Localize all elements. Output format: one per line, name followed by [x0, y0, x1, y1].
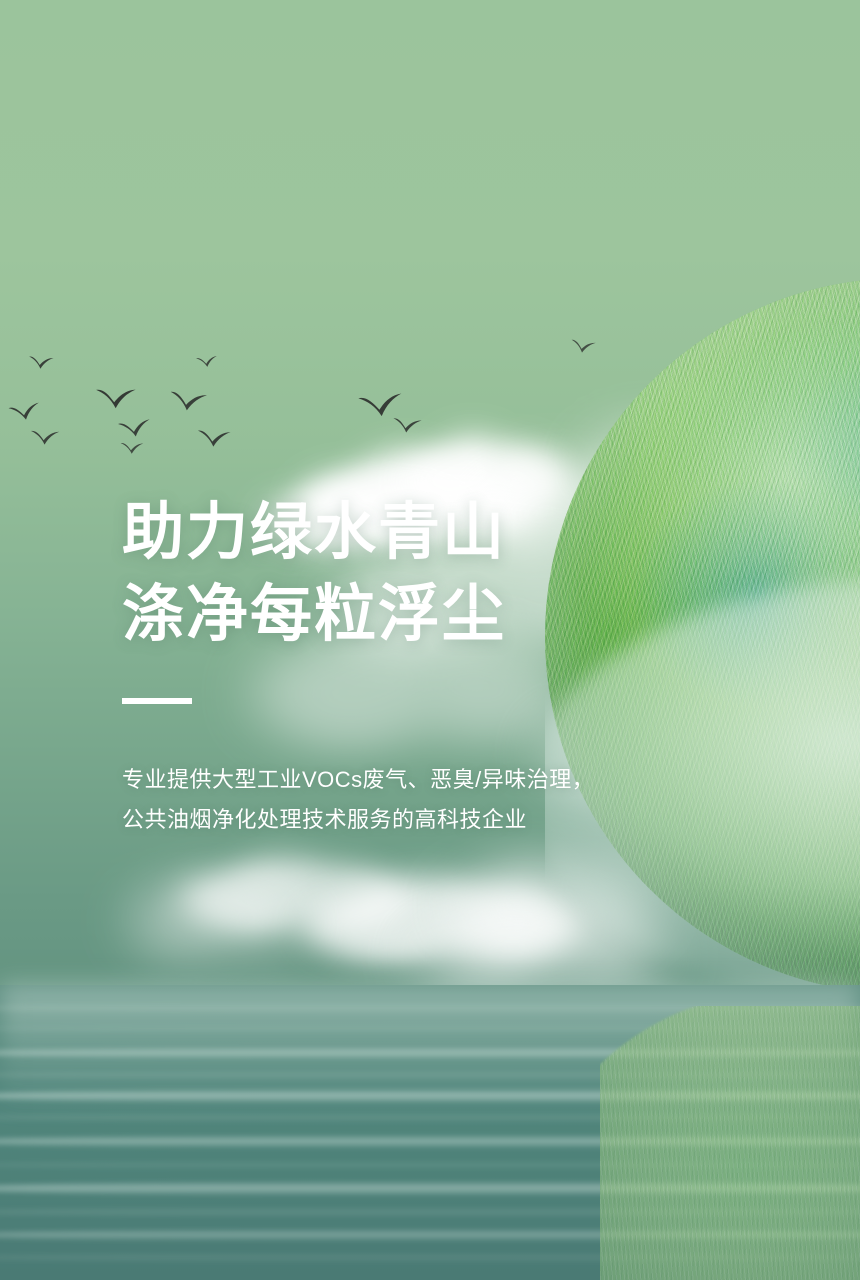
page-title: 助力绿水青山 涤净每粒浮尘: [122, 492, 682, 656]
text-content-block: 助力绿水青山 涤净每粒浮尘 专业提供大型工业VOCs废气、恶臭/异味治理， 公共…: [122, 492, 682, 840]
subtitle-line-2: 公共油烟净化处理技术服务的高科技企业: [122, 800, 682, 840]
title-divider: [122, 698, 192, 704]
headline-line-2: 涤净每粒浮尘: [122, 574, 682, 656]
reflection-grass-texture: [600, 1006, 860, 1280]
promo-poster: 助力绿水青山 涤净每粒浮尘 专业提供大型工业VOCs废气、恶臭/异味治理， 公共…: [0, 0, 860, 1280]
subtitle: 专业提供大型工业VOCs废气、恶臭/异味治理， 公共油烟净化处理技术服务的高科技…: [122, 760, 682, 840]
headline-line-1: 助力绿水青山: [122, 492, 682, 574]
globe-reflection: [600, 1006, 860, 1280]
subtitle-line-1: 专业提供大型工业VOCs废气、恶臭/异味治理，: [122, 760, 682, 800]
